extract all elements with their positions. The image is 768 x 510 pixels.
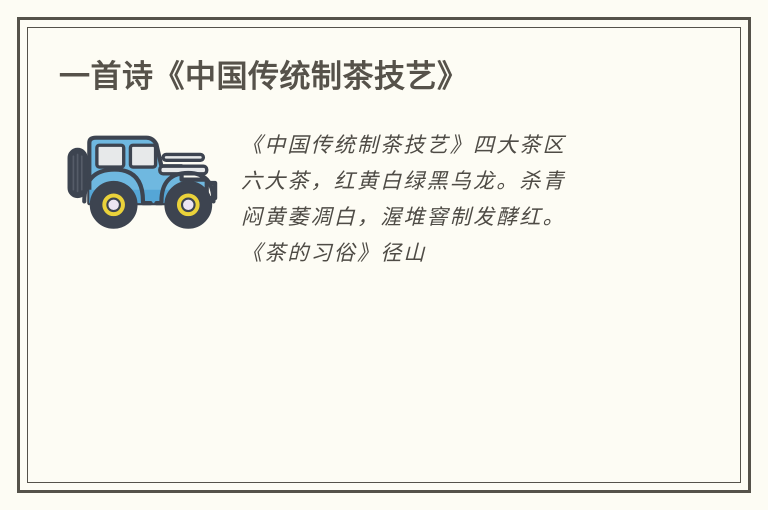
poem-line: 《茶的习俗》径山 — [241, 235, 707, 271]
document-page: 一首诗《中国传统制茶技艺》 — [0, 0, 768, 510]
page-title: 一首诗《中国传统制茶技艺》 — [59, 57, 707, 97]
content-area: 一首诗《中国传统制茶技艺》 — [27, 27, 741, 483]
poem-line: 六大茶，红黄白绿黑乌龙。杀青 — [241, 163, 707, 199]
poem-line: 《中国传统制茶技艺》四大茶区 — [241, 127, 707, 163]
poem-text: 《中国传统制茶技艺》四大茶区 六大茶，红黄白绿黑乌龙。杀青 闷黄萎凋白，渥堆窨制… — [227, 123, 707, 271]
jeep-icon — [59, 131, 227, 235]
article-body: 《中国传统制茶技艺》四大茶区 六大茶，红黄白绿黑乌龙。杀青 闷黄萎凋白，渥堆窨制… — [59, 123, 707, 271]
illustration-container — [59, 123, 227, 235]
poem-line: 闷黄萎凋白，渥堆窨制发酵红。 — [241, 199, 707, 235]
